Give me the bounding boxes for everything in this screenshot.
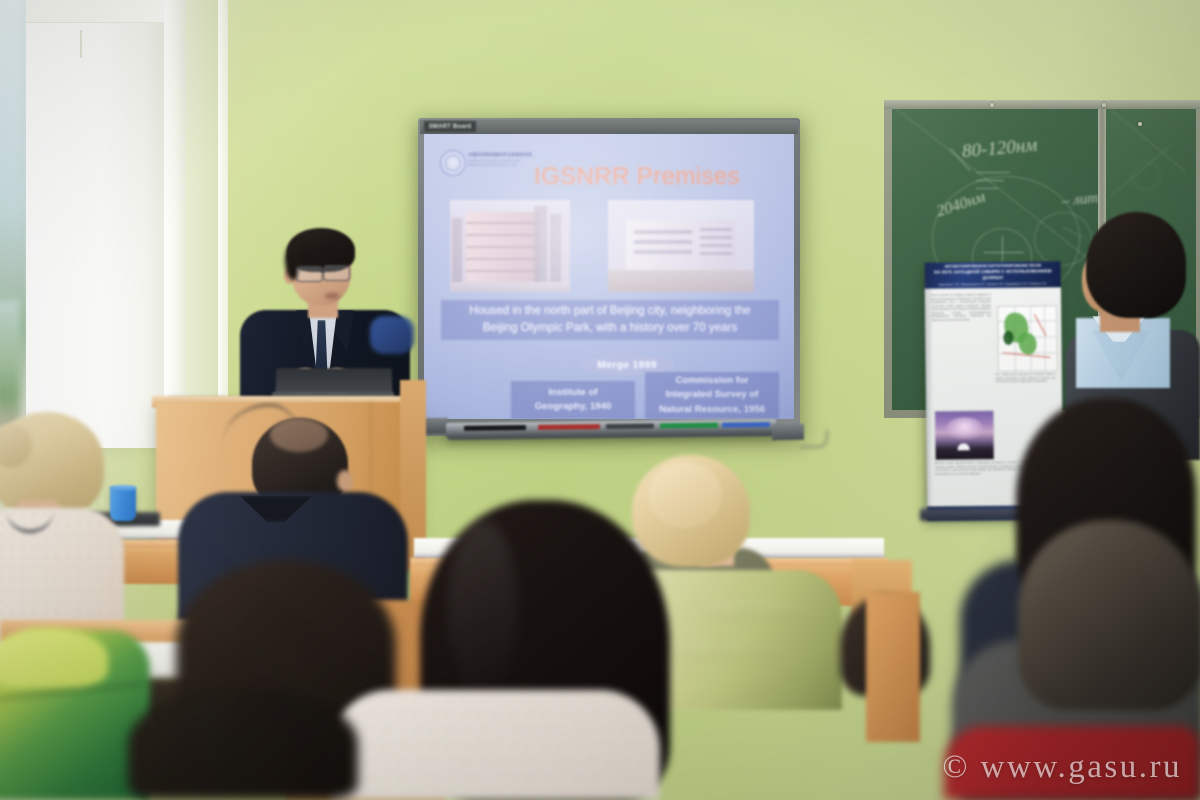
chalk-circle-small: [1132, 162, 1160, 190]
seated-man-ear: [337, 470, 353, 492]
slide-photo-older-building: [450, 200, 570, 292]
seated-man-scalp: [270, 418, 328, 452]
slide-banner-line2: Beijing Olympic Park, with a history ove…: [483, 320, 738, 337]
glasses-icon: [296, 266, 323, 282]
glasses-icon: [323, 265, 350, 281]
slide-title: IGSNRR Premises: [534, 163, 784, 191]
glasses-bridge: [320, 270, 325, 272]
chalk-mark: [976, 172, 1010, 173]
chalk-circle-small: [1034, 212, 1092, 266]
young-man-hair: [1086, 212, 1186, 318]
blind-headrail: [26, 0, 166, 23]
slide-photo-modern-building: [608, 200, 754, 292]
window-blind: [26, 0, 166, 448]
site-watermark: © www.gasu.ru: [942, 749, 1182, 786]
institute-name-cn: 中国科学院地理科学与资源研究所: [468, 152, 554, 157]
chalkboard-bolt: [990, 103, 994, 107]
poster-photo-figure: [934, 410, 995, 461]
green-jacket-hood: [0, 628, 108, 688]
desk-divider: [866, 592, 920, 742]
smartboard-top-bezel: [420, 120, 798, 134]
hair-highlight: [448, 520, 518, 700]
box-right-line1: Commission for: [675, 374, 748, 388]
blind-cord: [80, 30, 82, 58]
wall-return: [186, 0, 220, 448]
laptop-screen: [275, 368, 392, 394]
foreground-head-bottom: [128, 688, 358, 800]
blonde-bun: [648, 462, 722, 528]
window-jamb: [164, 0, 188, 448]
foreground-grey-hair: [1018, 520, 1200, 710]
chalk-mark: [976, 180, 1004, 181]
poster-title-line2: НА ЮГЕ ЗАПАДНОЙ СИБИРИ С ИСПОЛЬЗОВАНИЕМ …: [927, 268, 1059, 282]
poster-authors: Каренова С. Ю.¹, Балдынова М. Ю.¹, Котов…: [927, 282, 1059, 287]
box-right-line2: Integrated Survey of: [666, 388, 759, 402]
slide-box-institute-geography: Institute of Geography, 1940: [511, 381, 635, 419]
poster-edge-shadow: [926, 262, 931, 520]
presenter-mouth: [325, 293, 339, 299]
board-cable: [800, 430, 828, 448]
presenter-shoulder-highlight: [370, 316, 414, 354]
smartboard-brand-logo: SMART Board: [424, 121, 476, 132]
box-left-line1: Institute of: [548, 386, 597, 400]
chalkboard-bolt: [1138, 122, 1142, 126]
igsnrr-logo-inner: [445, 155, 461, 171]
blue-cup-rim: [109, 485, 137, 491]
chalkboard-bolt: [1102, 103, 1106, 107]
knit-pattern: [330, 690, 660, 800]
chalk-mark: [984, 252, 1024, 253]
box-right-line3: Natural Resource, 1956: [659, 403, 765, 417]
poster-header: АВТОМАТИЗИРОВАННОЕ КАРТОГРАФИРОВАНИЕ ЛЕС…: [925, 261, 1061, 288]
lecture-hall-photo: 80-120нм 2040нм – лит АВТОМАТИЗИРОВАННОЕ…: [0, 0, 1200, 800]
blue-cup: [110, 487, 136, 521]
poster-map-figure: [997, 305, 1058, 372]
slide-banner-line1: Housed in the north part of Beijing city…: [469, 303, 750, 320]
box-left-line2: Geography, 1940: [535, 400, 612, 414]
slide-box-commission: Commission for Integrated Survey of Natu…: [645, 372, 779, 419]
wall-pillar-edge: [218, 0, 228, 448]
chalkboard-top-rail: [884, 100, 1200, 109]
slide-banner: Housed in the north part of Beijing city…: [441, 300, 779, 340]
